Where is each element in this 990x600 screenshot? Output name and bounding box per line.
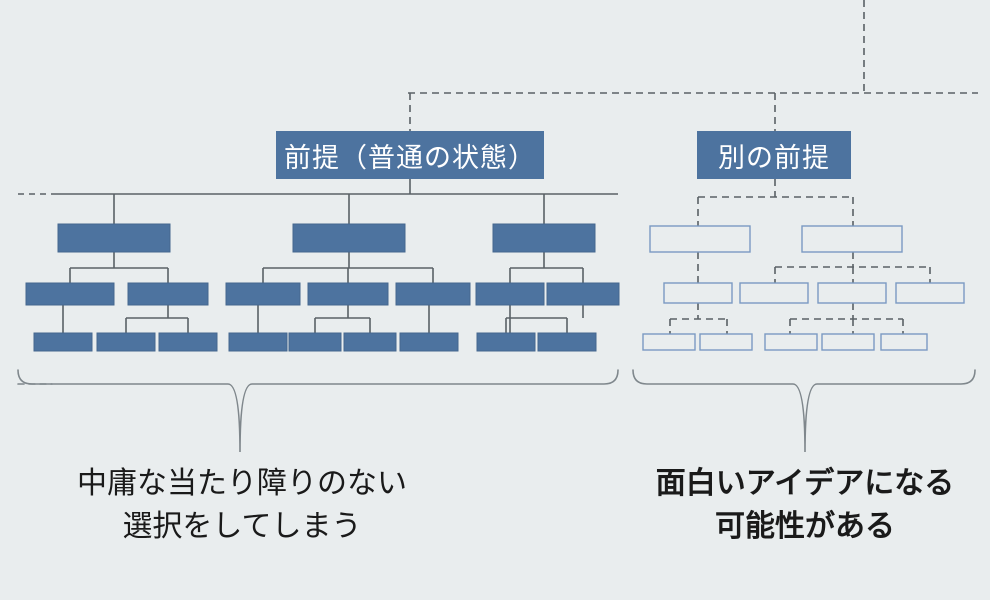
right-tree-node[interactable] — [881, 334, 927, 350]
left-tree-node[interactable] — [229, 333, 287, 351]
caption-left: 中庸な当たり障りのない 選択をしてしまう — [18, 463, 466, 548]
left-tree-node[interactable] — [226, 283, 300, 305]
right-tree-level3-boxes — [643, 334, 927, 350]
left-tree-node[interactable] — [538, 333, 596, 351]
right-tree-node[interactable] — [818, 283, 886, 303]
right-tree-node[interactable] — [664, 283, 732, 303]
right-tree-node[interactable] — [643, 334, 695, 350]
left-tree-node[interactable] — [293, 224, 405, 252]
left-tree-node[interactable] — [476, 283, 544, 305]
right-tree-node[interactable] — [740, 283, 808, 303]
left-tree-node[interactable] — [26, 283, 114, 305]
right-tree-node[interactable] — [802, 226, 902, 252]
premise-alternate-header[interactable]: 別の前提 — [697, 131, 851, 179]
left-tree-level1-boxes — [58, 224, 595, 252]
right-tree-connectors — [670, 179, 930, 334]
right-tree-level2-boxes — [664, 283, 964, 303]
left-tree-node[interactable] — [97, 333, 155, 351]
left-tree-node[interactable] — [159, 333, 217, 351]
left-tree-node[interactable] — [58, 224, 170, 252]
caption-right: 面白いアイデアになる 可能性がある — [633, 463, 977, 548]
premise-normal-label: 前提（普通の状態） — [284, 136, 536, 175]
left-tree-level2-boxes — [26, 283, 619, 305]
left-tree-level3-boxes — [34, 333, 596, 351]
left-tree-connectors — [18, 179, 618, 333]
left-tree-node[interactable] — [344, 333, 396, 351]
right-tree-level1-boxes — [650, 226, 902, 252]
left-tree-node[interactable] — [289, 333, 341, 351]
left-tree-node[interactable] — [493, 224, 595, 252]
top-dashed-connector — [408, 0, 978, 131]
left-tree-node[interactable] — [396, 283, 470, 305]
right-tree-node[interactable] — [896, 283, 964, 303]
premise-normal-header[interactable]: 前提（普通の状態） — [276, 131, 544, 179]
left-tree-node[interactable] — [400, 333, 458, 351]
premise-alternate-label: 別の前提 — [718, 136, 830, 175]
right-tree-node[interactable] — [765, 334, 817, 350]
brace-left — [18, 370, 618, 452]
summary-braces — [18, 370, 975, 452]
left-tree-node[interactable] — [34, 333, 92, 351]
brace-right — [633, 370, 975, 452]
left-tree-node[interactable] — [477, 333, 535, 351]
left-tree-node[interactable] — [128, 283, 208, 305]
right-tree-node[interactable] — [700, 334, 752, 350]
left-tree-node[interactable] — [308, 283, 388, 305]
right-tree-node[interactable] — [650, 226, 750, 252]
left-tree-node[interactable] — [547, 283, 619, 305]
diagram-canvas: 前提（普通の状態） 別の前提 中庸な当たり障りのない 選択をしてしまう 面白いア… — [0, 0, 990, 600]
right-tree-node[interactable] — [822, 334, 874, 350]
